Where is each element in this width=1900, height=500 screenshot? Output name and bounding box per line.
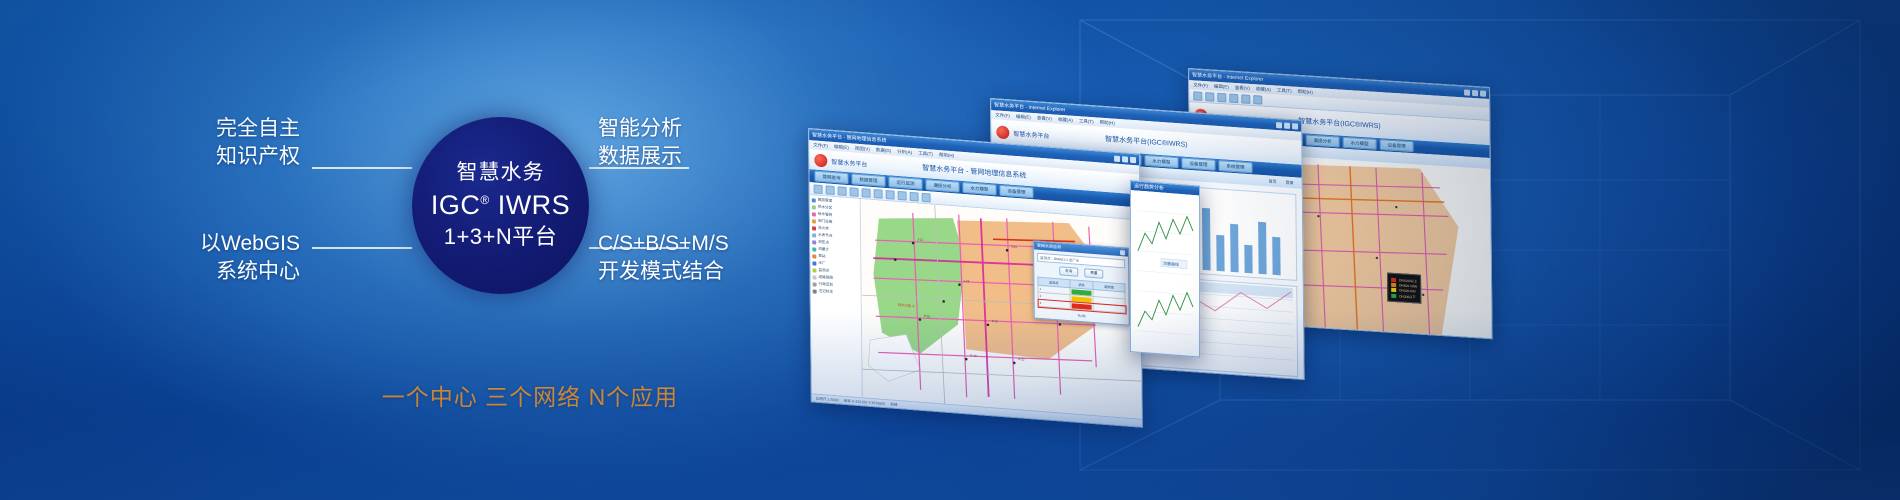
svg-text:P-22: P-22 [1018, 357, 1025, 362]
tree-label: 注记标注 [819, 289, 833, 295]
cell-value [1093, 303, 1125, 312]
layer-tree[interactable]: 图层管理 供水分区 给水管网 阀门设施 消火栓 水表节点 测压点 流量计 泵站 … [810, 195, 863, 397]
feature-label-line: 数据展示 [598, 143, 858, 171]
water-quality-dialog[interactable]: 管网水质监测 监测点：DMA01-2 出厂水 查询 重置 监测点 [1033, 240, 1130, 325]
badge-line-1: 智慧水务 [457, 161, 545, 185]
menu-item[interactable]: 工具(T) [1079, 118, 1094, 125]
feature-label-bottom-left: 以WebGIS 系统中心 [50, 230, 300, 285]
cell-status [1070, 302, 1094, 311]
badge-line-2: IGC® IWRS [431, 190, 570, 221]
nav-item[interactable]: 水力模型 [1144, 155, 1178, 168]
feature-label-line: 开发模式结合 [598, 258, 858, 286]
product-badge: 智慧水务 IGC® IWRS 1+3+N平台 [412, 117, 589, 294]
close-icon[interactable] [1120, 250, 1125, 255]
nav-item[interactable]: 漏损分析 [1306, 134, 1340, 147]
query-button[interactable]: 查询 [1059, 266, 1078, 276]
pan-icon[interactable] [814, 184, 823, 194]
menu-item[interactable]: 编辑(E) [1214, 83, 1229, 90]
search-icon[interactable] [910, 191, 919, 201]
link-login[interactable]: 登录 [1283, 178, 1297, 187]
window-controls[interactable] [1276, 122, 1298, 130]
svg-text:P-19: P-19 [970, 354, 977, 359]
status-scale: 比例尺 1:5000 [816, 396, 839, 403]
menu-item[interactable]: 收藏(A) [1058, 116, 1073, 123]
link-home[interactable]: 首页 [1266, 177, 1280, 186]
print-icon[interactable] [1241, 94, 1250, 104]
menu-item[interactable]: 数据(D) [876, 147, 891, 154]
refresh-icon[interactable] [1217, 92, 1226, 102]
badge-igc: IGC [431, 190, 481, 220]
window-controls[interactable] [1114, 155, 1136, 163]
zoom-out-icon[interactable] [838, 186, 847, 196]
connector-line-top-left [312, 167, 412, 169]
feature-label-top-left: 完全自主 知识产权 [50, 115, 300, 170]
registered-icon: ® [480, 193, 489, 207]
forward-icon[interactable] [1205, 92, 1214, 102]
cell-name: 3 [1038, 299, 1070, 308]
badge-iwrs: IWRS [498, 190, 571, 220]
nav-item[interactable]: 系统管理 [1218, 160, 1252, 173]
home-icon[interactable] [1229, 93, 1238, 103]
result-table: 监测点 状态 超标值 1 2 [1037, 277, 1125, 314]
legend-label: DN300以下 [1399, 293, 1415, 299]
nav-item[interactable]: 水力模型 [1343, 137, 1377, 150]
nav-item[interactable]: 设备管理 [1380, 139, 1414, 152]
settings-icon[interactable] [1253, 95, 1262, 105]
feature-label-line: 知识产权 [50, 143, 300, 171]
chart-area: 流量曲线 [1131, 190, 1199, 355]
svg-text:J-12: J-12 [917, 237, 923, 241]
tree-label: 图层管理 [818, 198, 832, 204]
concept-graphic: 完全自主 知识产权 以WebGIS 系统中心 智能分析 数据展示 C/S+B/S… [250, 95, 810, 345]
brand-name: 智慧水务平台 [1013, 128, 1049, 140]
gis-map-canvas[interactable]: J-12J-24 J-31J-48 P-07P-15 P-22P-19 供水分区… [861, 199, 1142, 419]
svg-text:J-31: J-31 [1011, 245, 1017, 249]
feature-label-line: 系统中心 [50, 258, 300, 286]
fullextent-icon[interactable] [922, 192, 931, 202]
window-chart[interactable]: 运行趋势分析 流量曲线 [1130, 180, 1200, 358]
screenshot-cluster: 智慧水务平台 - Internet Explorer 文件(F) 编辑(E) 查… [790, 40, 1900, 460]
svg-text:J-24: J-24 [963, 279, 969, 283]
window-front-gis[interactable]: 智慧水务平台 - 管网地理信息系统 文件(F) 编辑(E) 视图(V) 数据(D… [808, 128, 1143, 428]
menu-item[interactable]: 工具(T) [918, 150, 933, 157]
menu-item[interactable]: 收藏(A) [1256, 86, 1271, 93]
map-legend: DN1000以上 DN600-1000 DN300-600 DN300以下 [1387, 273, 1421, 304]
window-controls[interactable] [1464, 89, 1486, 96]
banner-stage: 智慧水务平台 - Internet Explorer 文件(F) 编辑(E) 查… [0, 0, 1900, 500]
measure-icon[interactable] [862, 188, 871, 198]
zoom-in-icon[interactable] [826, 185, 835, 195]
menu-item[interactable]: 帮助(H) [1100, 119, 1115, 126]
feature-label-line: 智能分析 [598, 115, 858, 143]
svg-text:P-15: P-15 [924, 314, 931, 319]
menu-item[interactable]: 工具(T) [1277, 87, 1292, 94]
menu-item[interactable]: 帮助(H) [1298, 88, 1313, 95]
status-ready: 就绪 [890, 402, 897, 408]
connector-line-bottom-left [312, 247, 412, 249]
tree-node[interactable]: 注记标注 [813, 288, 859, 297]
menu-item[interactable]: 帮助(H) [939, 152, 954, 159]
svg-text:流量曲线: 流量曲线 [1163, 260, 1179, 267]
legend-row: DN300以下 [1391, 293, 1417, 300]
svg-text:P-07: P-07 [992, 319, 999, 324]
tree-label: 供水分区 [818, 205, 832, 211]
dialog-content: 监测点：DMA01-2 出厂水 查询 重置 监测点 状态 超标值 [1034, 249, 1129, 324]
tree-label: 阀门设施 [818, 219, 832, 225]
menu-item[interactable]: 查看(V) [1235, 84, 1250, 91]
back-icon[interactable] [1193, 91, 1202, 101]
app-logo-icon [996, 125, 1009, 139]
badge-line-3: 1+3+N平台 [444, 224, 558, 249]
feature-label-line: 完全自主 [50, 115, 300, 143]
tree-label: 给水管网 [818, 212, 832, 218]
feature-label-line: C/S+B/S+M/S [598, 230, 858, 258]
menu-item[interactable]: 查看(V) [1037, 115, 1052, 122]
tagline: 一个中心 三个网络 N个应用 [250, 378, 810, 412]
menu-item[interactable]: 编辑(E) [1016, 113, 1031, 120]
print-icon[interactable] [898, 190, 907, 200]
identify-icon[interactable] [874, 189, 883, 199]
select-icon[interactable] [850, 187, 859, 197]
status-coords: 坐标 X:432150 Y:3376820 [844, 398, 886, 406]
nav-item[interactable]: 设备管理 [1181, 157, 1215, 170]
reset-button[interactable]: 重置 [1084, 268, 1103, 278]
gis-body: 图层管理 供水分区 给水管网 阀门设施 消火栓 水表节点 测压点 流量计 泵站 … [810, 195, 1142, 419]
menu-item[interactable]: 分析(A) [897, 148, 912, 155]
feature-label-top-right: 智能分析 数据展示 [598, 115, 858, 170]
feature-label-bottom-right: C/S+B/S+M/S 开发模式结合 [598, 230, 858, 285]
layer-icon[interactable] [886, 189, 895, 199]
feature-label-line: 以WebGIS [50, 230, 300, 258]
menu-item[interactable]: 文件(F) [995, 112, 1010, 119]
menu-item[interactable]: 文件(F) [1193, 82, 1208, 89]
